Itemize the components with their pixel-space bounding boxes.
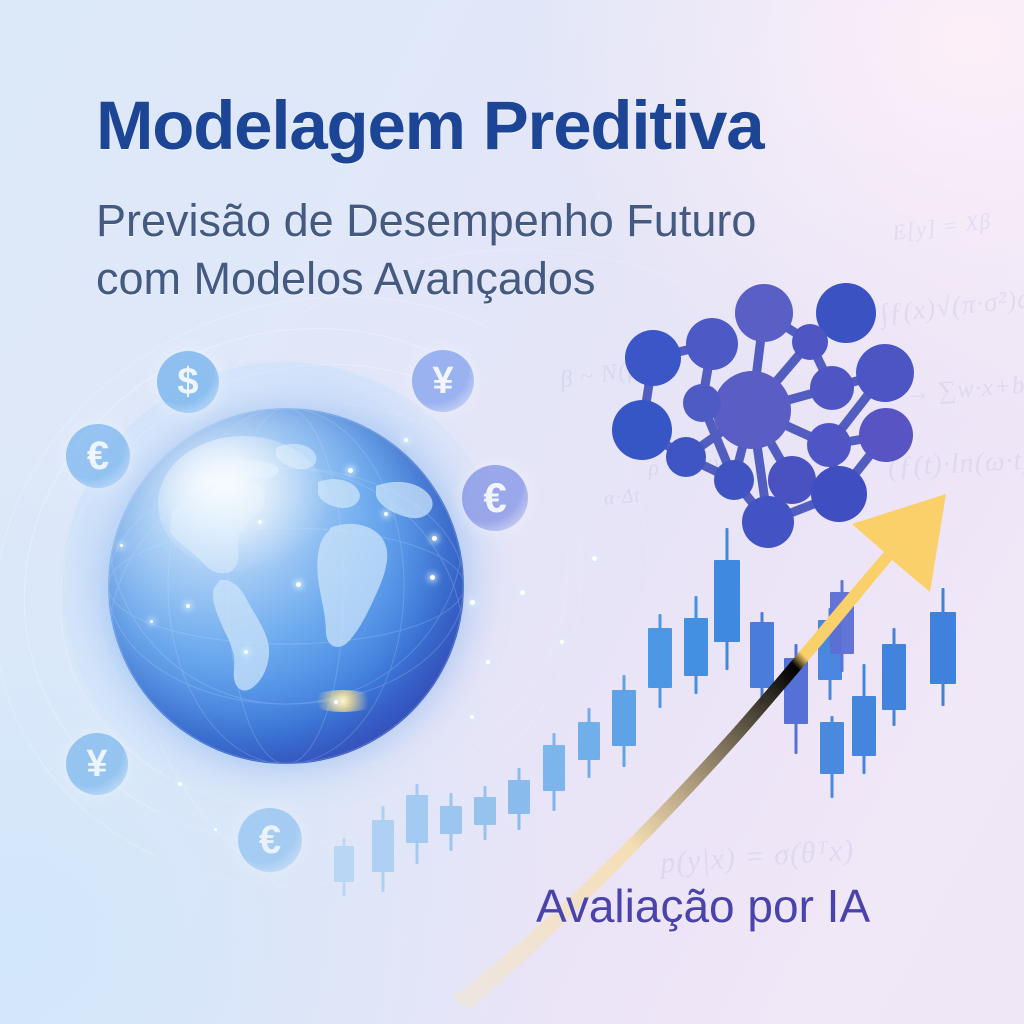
candlestick-body: [474, 797, 496, 825]
page-subtitle: Previsão de Desempenho Futuro com Modelo…: [96, 192, 756, 308]
candlestick-body: [820, 722, 844, 774]
sparkle-dot: [470, 715, 474, 719]
candlestick: [820, 716, 844, 798]
sparkle-dot: [520, 590, 525, 595]
candlestick: [440, 793, 462, 851]
poster-canvas: ∫ƒ(x)√(π·σ²)dx→ ∑w·x+b(ƒ(t)·ln(ω·t))β ~ …: [0, 0, 1024, 1024]
candlestick-body: [930, 612, 956, 684]
currency-coin-dollar: $: [157, 351, 219, 413]
currency-symbol: ¥: [86, 743, 107, 786]
candlestick: [612, 675, 636, 767]
neural-node: [742, 496, 794, 548]
globe-graphic: [108, 408, 464, 764]
currency-symbol: €: [259, 818, 281, 863]
neural-node: [683, 384, 721, 422]
candlestick: [578, 708, 600, 778]
candlestick: [406, 784, 428, 864]
candlestick-body: [440, 806, 462, 834]
candlestick: [543, 733, 565, 811]
candlestick: [882, 628, 906, 726]
candlestick: [930, 588, 956, 706]
candlestick-body: [830, 592, 854, 654]
neural-node: [810, 366, 854, 410]
currency-coin-yen-top: ¥: [412, 350, 474, 412]
candlestick-body: [882, 644, 906, 710]
candlestick-body: [750, 622, 774, 688]
candlestick-body: [508, 780, 530, 814]
neural-network-graph: [598, 268, 958, 568]
currency-symbol: ¥: [432, 360, 453, 403]
globe-sphere: [108, 408, 464, 764]
candlestick: [334, 838, 354, 896]
candlestick: [750, 612, 774, 704]
currency-symbol: €: [483, 474, 506, 522]
candlestick-body: [714, 560, 740, 642]
candlestick: [648, 614, 672, 708]
candlestick: [784, 644, 808, 754]
neural-node: [666, 437, 706, 477]
neural-node: [811, 466, 867, 522]
globe-specular-highlight: [158, 436, 329, 571]
sparkle-dot: [560, 640, 564, 644]
candlestick-body: [784, 658, 808, 724]
background-formula: p(y|x) = σ(θᵀx): [659, 833, 855, 880]
neural-node: [625, 330, 681, 386]
currency-coin-euro-left: €: [66, 424, 130, 488]
sparkle-dot: [214, 828, 217, 831]
candlestick-body: [543, 745, 565, 791]
neural-node: [859, 408, 913, 462]
candlestick: [508, 768, 530, 830]
neural-node: [612, 400, 672, 460]
candlestick-body: [648, 628, 672, 688]
candlestick-body: [578, 722, 600, 760]
footer-caption: Avaliação por IA: [536, 879, 870, 933]
currency-coin-euro-bottom: €: [238, 808, 302, 872]
neural-node: [856, 344, 914, 402]
candlestick: [684, 596, 708, 694]
currency-symbol: €: [87, 434, 109, 479]
candlestick-body: [684, 618, 708, 676]
candlestick-body: [372, 820, 394, 872]
neural-node: [714, 460, 754, 500]
candlestick-body: [612, 690, 636, 746]
page-title: Modelagem Preditiva: [96, 86, 763, 165]
neural-node: [807, 423, 851, 467]
candlestick-body: [334, 846, 354, 882]
currency-symbol: $: [177, 361, 198, 404]
sparkle-dot: [592, 556, 597, 561]
currency-coin-euro-right: €: [462, 465, 528, 531]
candlestick: [372, 806, 394, 892]
candlestick-body: [406, 795, 428, 843]
candlestick: [852, 664, 876, 774]
currency-coin-yen-bottom: ¥: [66, 733, 128, 795]
neural-node: [768, 456, 816, 504]
neural-node: [686, 318, 738, 370]
candlestick: [830, 580, 854, 672]
neural-node: [792, 324, 828, 360]
candlestick: [474, 786, 496, 840]
candlestick-body: [852, 696, 876, 756]
background-formula: E[y] = Xβ: [891, 208, 993, 246]
neural-node: [713, 371, 791, 449]
